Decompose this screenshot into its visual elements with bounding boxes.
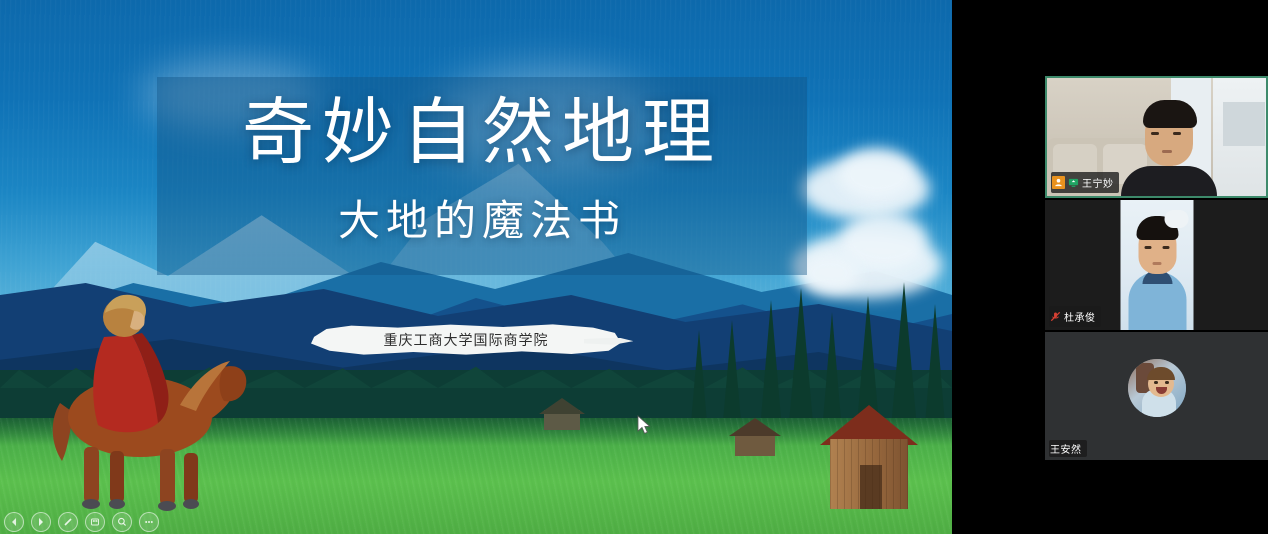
- hand: [1164, 210, 1188, 228]
- participant-name-chip: 王宁妙: [1051, 172, 1119, 193]
- participant-video-panel: 王宁妙: [952, 0, 1268, 534]
- next-slide-button[interactable]: [31, 512, 51, 532]
- shared-slide[interactable]: 奇妙自然地理 大地的魔法书 重庆工商大学国际商学院: [0, 0, 952, 534]
- conifer-tree: [788, 288, 814, 434]
- magnifier-icon[interactable]: [112, 512, 132, 532]
- organization-name: 重庆工商大学国际商学院: [311, 323, 621, 356]
- participant-name-chip: 王安然: [1049, 440, 1087, 457]
- slide-title: 奇妙自然地理: [157, 96, 807, 168]
- screen-share-meeting-window: 奇妙自然地理 大地的魔法书 重庆工商大学国际商学院: [0, 0, 1268, 534]
- horse-and-rider-illustration: [48, 285, 258, 515]
- muted-microphone-icon: [1050, 307, 1061, 326]
- video-feed: [1120, 200, 1193, 330]
- screen-share-icon: [1068, 173, 1079, 192]
- host-badge-icon: [1052, 176, 1065, 189]
- eye: [1144, 246, 1151, 249]
- person-shoulders: [1121, 166, 1217, 198]
- eye: [1173, 132, 1181, 135]
- large-barn: [820, 405, 918, 509]
- conifer-tree: [722, 320, 742, 432]
- mouth: [1152, 262, 1161, 265]
- mouth: [1162, 150, 1172, 153]
- participant-tile[interactable]: 王安然: [1045, 332, 1268, 460]
- more-options-icon[interactable]: [139, 512, 159, 532]
- participant-name: 王安然: [1050, 441, 1082, 456]
- presentation-toolbar[interactable]: [4, 512, 159, 532]
- pen-icon[interactable]: [58, 512, 78, 532]
- cloud: [838, 148, 916, 200]
- mouse-cursor: [637, 415, 651, 435]
- participant-tile[interactable]: 王宁妙: [1045, 76, 1268, 198]
- avatar: [1128, 359, 1186, 417]
- eye: [1162, 246, 1169, 249]
- small-barn: [729, 418, 781, 456]
- window-pane: [1223, 102, 1265, 146]
- person-hair: [1143, 100, 1197, 128]
- participant-name: 杜承俊: [1064, 309, 1096, 324]
- eye: [1151, 132, 1159, 135]
- conifer-tree: [924, 304, 946, 436]
- conifer-tree: [760, 300, 782, 430]
- participant-name-chip: 杜承俊: [1049, 306, 1101, 327]
- grid-view-icon[interactable]: [85, 512, 105, 532]
- slide-subtitle: 大地的魔法书: [157, 200, 807, 242]
- organization-banner: 重庆工商大学国际商学院: [311, 323, 621, 356]
- participant-name: 王宁妙: [1082, 175, 1114, 190]
- participant-tile[interactable]: 杜承俊: [1045, 200, 1268, 330]
- previous-slide-button[interactable]: [4, 512, 24, 532]
- small-barn: [539, 398, 585, 430]
